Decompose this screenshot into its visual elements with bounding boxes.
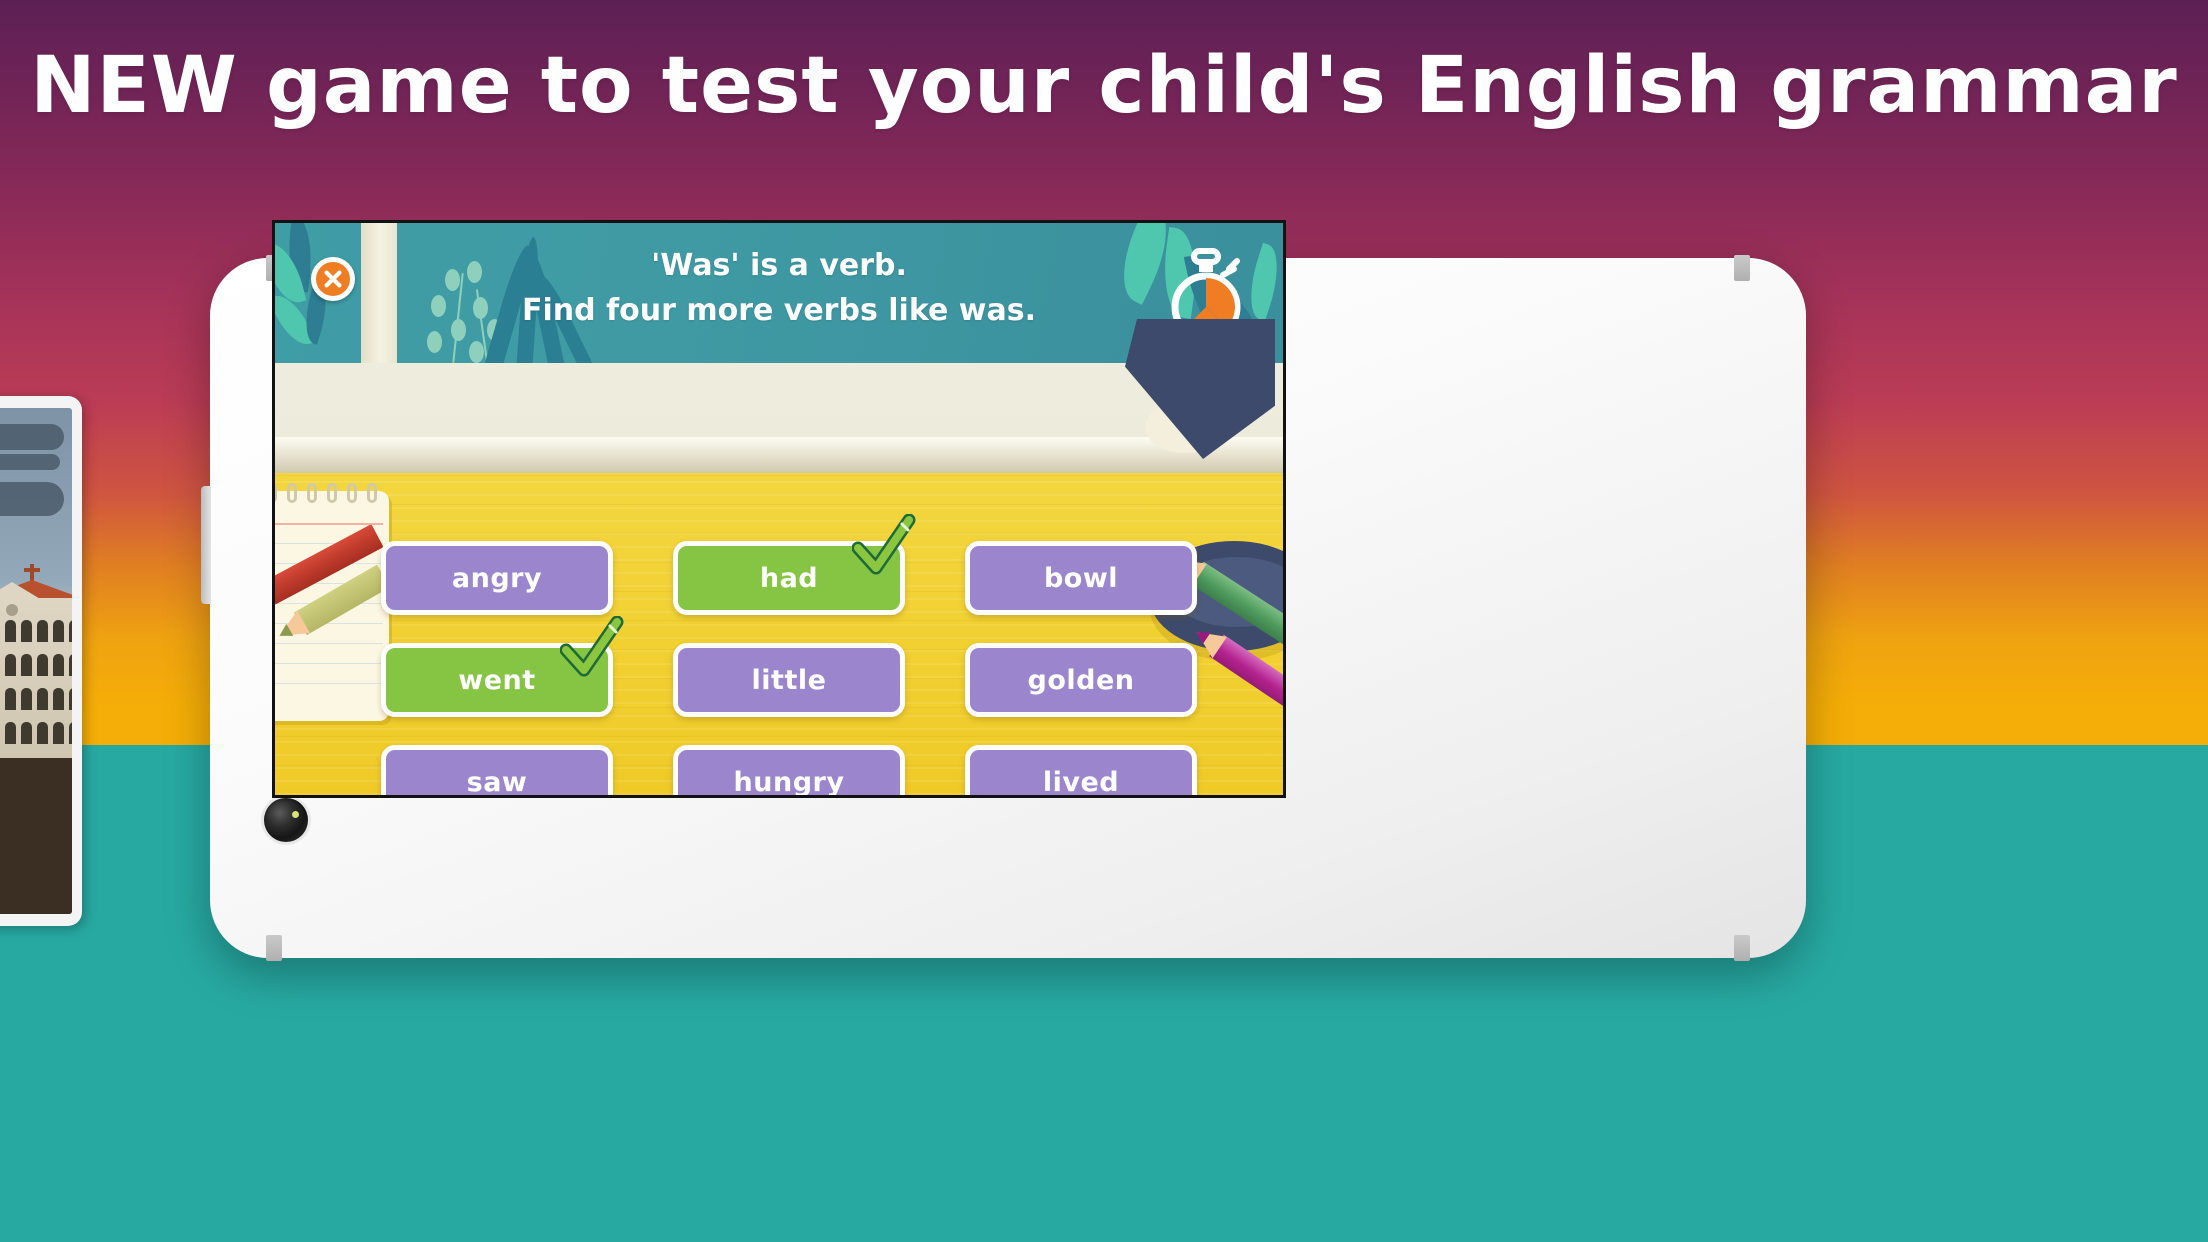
building-illustration xyxy=(0,598,72,758)
word-tile-label: bowl xyxy=(1044,563,1118,594)
instruction-text: 'Was' is a verb. Find four more verbs li… xyxy=(275,243,1283,333)
window-row xyxy=(0,722,72,744)
word-tile-grid: angryhadbowlwentlittlegoldensawhungryliv… xyxy=(381,541,1197,798)
word-tile[interactable]: golden xyxy=(965,643,1197,717)
notepad-margin-line xyxy=(272,523,383,525)
word-tile-label: went xyxy=(458,665,535,696)
word-tile[interactable]: lived xyxy=(965,745,1197,798)
antenna-line xyxy=(266,935,282,961)
antenna-line xyxy=(1734,255,1750,281)
spiral-ring xyxy=(272,483,277,503)
window-row xyxy=(0,654,72,676)
cloud-shape xyxy=(0,482,64,516)
word-tile-label: hungry xyxy=(734,767,845,798)
word-tile-label: lived xyxy=(1043,767,1119,798)
word-tile-label: angry xyxy=(452,563,542,594)
word-tile[interactable]: angry xyxy=(381,541,613,615)
spiral-ring xyxy=(307,483,317,503)
side-button[interactable] xyxy=(201,486,211,604)
camera-lens xyxy=(264,798,308,842)
spiral-ring xyxy=(287,483,297,503)
window-sill xyxy=(275,437,1283,473)
spiral-ring xyxy=(367,483,377,503)
close-icon xyxy=(322,268,344,290)
notepad-rule xyxy=(272,683,383,684)
spiral-ring xyxy=(347,483,357,503)
cloud-shape xyxy=(0,424,64,450)
ground-shape xyxy=(0,758,72,914)
side-phone-screen xyxy=(0,408,72,914)
spiral-ring xyxy=(327,483,337,503)
word-tile[interactable]: hungry xyxy=(673,745,905,798)
word-tile[interactable]: went xyxy=(381,643,613,717)
game-screen: 'Was' is a verb. Find four more verbs li… xyxy=(272,220,1286,798)
checkmark-icon xyxy=(560,616,624,678)
side-phone-device xyxy=(0,396,82,926)
cross-icon xyxy=(30,564,34,582)
sprig-bud xyxy=(469,341,484,363)
instruction-line-1: 'Was' is a verb. xyxy=(275,243,1283,288)
word-tile[interactable]: saw xyxy=(381,745,613,798)
word-tile-label: had xyxy=(760,563,818,594)
word-tile[interactable]: little xyxy=(673,643,905,717)
close-button[interactable] xyxy=(311,257,355,301)
word-tile-label: little xyxy=(752,665,827,696)
promo-headline: NEW game to test your child's English gr… xyxy=(0,44,2208,128)
window-row xyxy=(0,688,72,710)
instruction-line-2: Find four more verbs like was. xyxy=(275,288,1283,333)
window-row xyxy=(0,620,72,642)
antenna-line xyxy=(1734,935,1750,961)
sprig-bud xyxy=(427,331,442,353)
word-tile[interactable]: had xyxy=(673,541,905,615)
notepad-rule xyxy=(272,663,383,664)
word-tile[interactable]: bowl xyxy=(965,541,1197,615)
cloud-shape xyxy=(0,454,60,470)
word-tile-label: golden xyxy=(1028,665,1135,696)
word-tile-label: saw xyxy=(467,767,528,798)
oculus-shape xyxy=(6,604,18,616)
